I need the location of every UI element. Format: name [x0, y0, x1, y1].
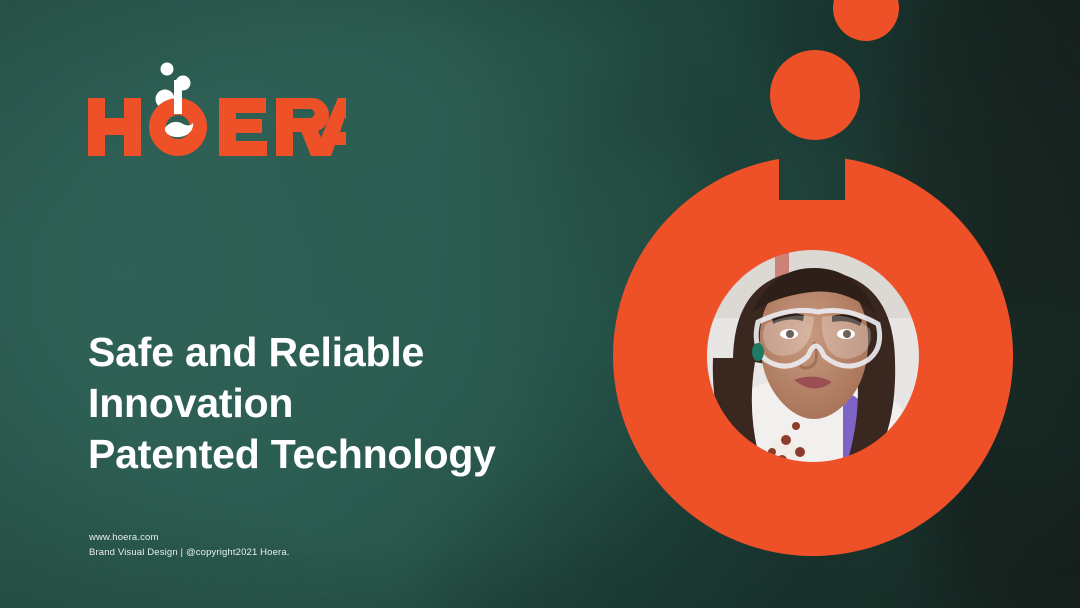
- website-url[interactable]: www.hoera.com: [89, 530, 290, 545]
- footer: www.hoera.com Brand Visual Design | @cop…: [89, 530, 290, 560]
- hero-graphic: [600, 0, 1080, 608]
- presentation-slide: Safe and Reliable Innovation Patented Te…: [0, 0, 1080, 608]
- orange-dot-small: [833, 0, 899, 41]
- brand-logo: [86, 56, 346, 156]
- headline-line-2: Innovation: [88, 378, 648, 429]
- flask-with-bubbles-icon: [86, 56, 346, 156]
- page-title: Safe and Reliable Innovation Patented Te…: [88, 327, 648, 480]
- orange-dot-large: [770, 50, 860, 140]
- copyright-text: Brand Visual Design | @copyright2021 Hoe…: [89, 545, 290, 560]
- headline-line-1: Safe and Reliable: [88, 327, 648, 378]
- headline-line-3: Patented Technology: [88, 429, 648, 480]
